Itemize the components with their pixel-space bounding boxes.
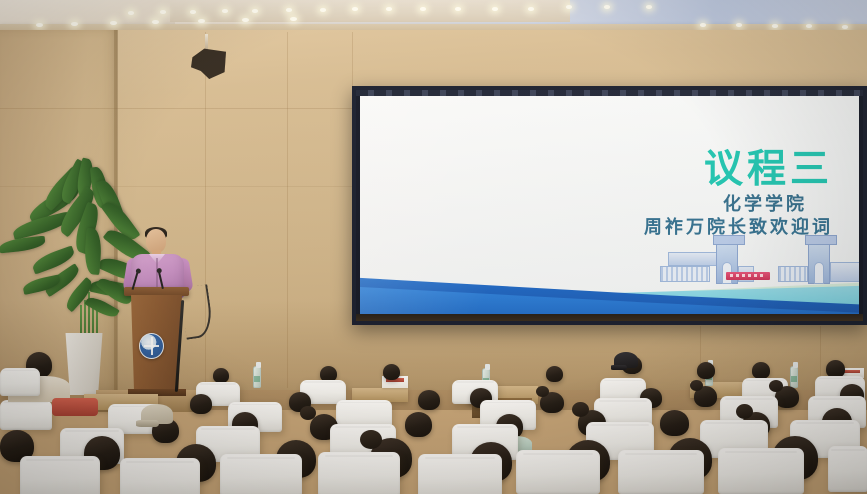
audience-head [190,394,212,414]
wall-horizontal-seam [0,108,352,109]
ceiling-light-icon [286,8,292,12]
ceiling-light-icon [566,5,572,9]
audience-chair [718,448,804,494]
audience-chair [220,454,302,494]
audience-head [213,368,229,383]
ceiling-light-icon [528,7,534,11]
ceiling-light-icon [352,7,358,11]
water-bottle [253,366,261,388]
presentation-slide: 议程三 化学学院 周祚万院长致欢迎词 [360,96,859,314]
ceiling-light-icon [222,9,228,13]
audience-red-garment [52,398,98,416]
baseball-cap-icon [614,352,638,368]
hair-bun [690,380,703,391]
slide-title: 议程三 [360,138,833,194]
audience-chair [318,452,400,494]
ceiling-light-icon [772,24,778,28]
hair-bun [736,404,753,419]
ceiling-light-icon [700,23,706,27]
audience-chair [120,458,200,494]
audience-head [405,412,432,437]
audience-chair [0,368,40,396]
ceiling-light-icon [806,24,812,28]
audience-head [660,410,689,436]
water-bottle [790,366,798,388]
ceiling-light-icon [128,11,134,15]
baseball-cap-icon [141,404,173,424]
hair-bun [769,380,783,392]
audience-chair [20,456,100,494]
slide-subtitle-speaker: 周祚万院长致欢迎词 [360,213,833,239]
projection-screen: 议程三 化学学院 周祚万院长致欢迎词 [352,86,867,325]
ceiling-light-icon [160,10,166,14]
university-crest-icon [139,333,164,359]
ceiling-light-icon [842,25,848,29]
audience-head [418,390,440,410]
hair-bun [360,430,382,449]
hair-bun [572,402,589,417]
ceiling-light-icon [190,10,196,14]
audience-head [752,362,770,379]
ceiling-light-icon [252,9,258,13]
audience-chair [0,400,52,430]
ceiling-light-icon [320,8,326,12]
audience-head [546,366,563,382]
audience-head [383,364,400,380]
hair-bun [536,386,549,397]
ceiling-light-icon [420,7,426,11]
ceiling-light-icon [604,5,610,9]
ceiling-light-icon [646,5,652,9]
ceiling-light-icon [492,7,498,11]
ceiling-recess [170,0,570,22]
campus-gate-right-icon [778,232,859,284]
wall-panel-seam [352,32,353,86]
audience-chair [618,450,704,494]
campus-red-banner [726,272,770,280]
ceiling-light-icon [455,7,461,11]
audience-head [697,362,715,379]
hair-bun [300,406,316,420]
conference-hall-photo: 议程三 化学学院 周祚万院长致欢迎词 [0,0,867,494]
audience-chair [828,446,867,492]
ceiling-light-icon [386,7,392,11]
audience-chair [418,454,502,494]
ceiling-light-icon [736,23,742,27]
audience-chair [516,450,600,494]
